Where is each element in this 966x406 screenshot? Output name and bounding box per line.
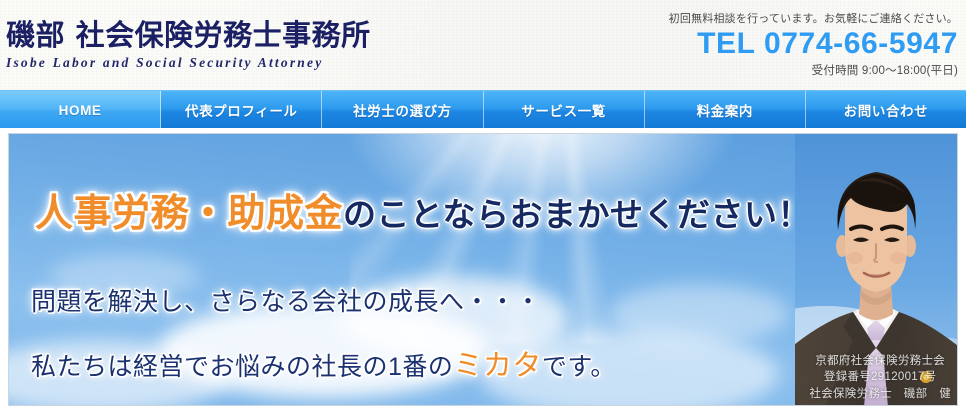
contact-telephone[interactable]: TEL 0774-66-5947 bbox=[669, 27, 958, 61]
main-navigation: HOME 代表プロフィール 社労士の選び方 サービス一覧 料金案内 お問い合わせ bbox=[0, 90, 966, 128]
hero-subline-2: 私たちは経営でお悩みの社長の1番のミカタです。 bbox=[31, 342, 616, 384]
header-contact-block: 初回無料相談を行っています。お気軽にご連絡ください。 TEL 0774-66-5… bbox=[669, 10, 958, 78]
hero-headline: 人事労務・助成金のことならおまかせください！ bbox=[35, 182, 811, 237]
nav-item-home[interactable]: HOME bbox=[0, 91, 161, 129]
credential-line-2: 登録番号29120017号 bbox=[809, 369, 951, 385]
hero-headline-accent: 人事労務・助成金 bbox=[35, 193, 343, 235]
nav-item-howtochoose[interactable]: 社労士の選び方 bbox=[322, 91, 483, 129]
hero-banner-wrapper: 人事労務・助成金のことならおまかせください！ 問題を解決し、さらなる会社の成長へ… bbox=[0, 128, 966, 406]
nav-item-services[interactable]: サービス一覧 bbox=[484, 91, 645, 129]
hero-subline-2-accent: ミカタ bbox=[453, 350, 542, 382]
contact-lead-text: 初回無料相談を行っています。お気軽にご連絡ください。 bbox=[669, 10, 958, 26]
attorney-credential-text: 京都府社会保険労務士会 登録番号29120017号 社会保険労務士 磯部 健 bbox=[809, 353, 951, 402]
logo-main-text: 磯部 社会保険労務士事務所 bbox=[6, 20, 371, 50]
site-logo[interactable]: 磯部 社会保険労務士事務所 Isobe Labor and Social Sec… bbox=[6, 20, 371, 71]
credential-line-3: 社会保険労務士 磯部 健 bbox=[809, 386, 951, 402]
hero-subline-2-after: です。 bbox=[542, 353, 616, 381]
hero-subline-2-before: 私たちは経営でお悩みの社長の1番の bbox=[31, 353, 453, 381]
nav-item-pricing[interactable]: 料金案内 bbox=[645, 91, 806, 129]
hero-headline-rest: のことならおまかせください！ bbox=[343, 196, 811, 233]
nav-item-contact[interactable]: お問い合わせ bbox=[806, 91, 966, 129]
cloud-graphic bbox=[609, 284, 789, 344]
nav-item-profile[interactable]: 代表プロフィール bbox=[161, 91, 322, 129]
contact-hours-text: 受付時間 9:00〜18:00(平日) bbox=[669, 62, 958, 78]
site-header: 磯部 社会保険労務士事務所 Isobe Labor and Social Sec… bbox=[0, 0, 966, 90]
hero-banner[interactable]: 人事労務・助成金のことならおまかせください！ 問題を解決し、さらなる会社の成長へ… bbox=[8, 133, 958, 406]
hero-subline-1: 問題を解決し、さらなる会社の成長へ・・・ bbox=[31, 282, 541, 318]
logo-sub-text: Isobe Labor and Social Security Attorney bbox=[6, 55, 371, 71]
page-root: 磯部 社会保険労務士事務所 Isobe Labor and Social Sec… bbox=[0, 0, 966, 406]
credential-line-1: 京都府社会保険労務士会 bbox=[809, 353, 951, 369]
